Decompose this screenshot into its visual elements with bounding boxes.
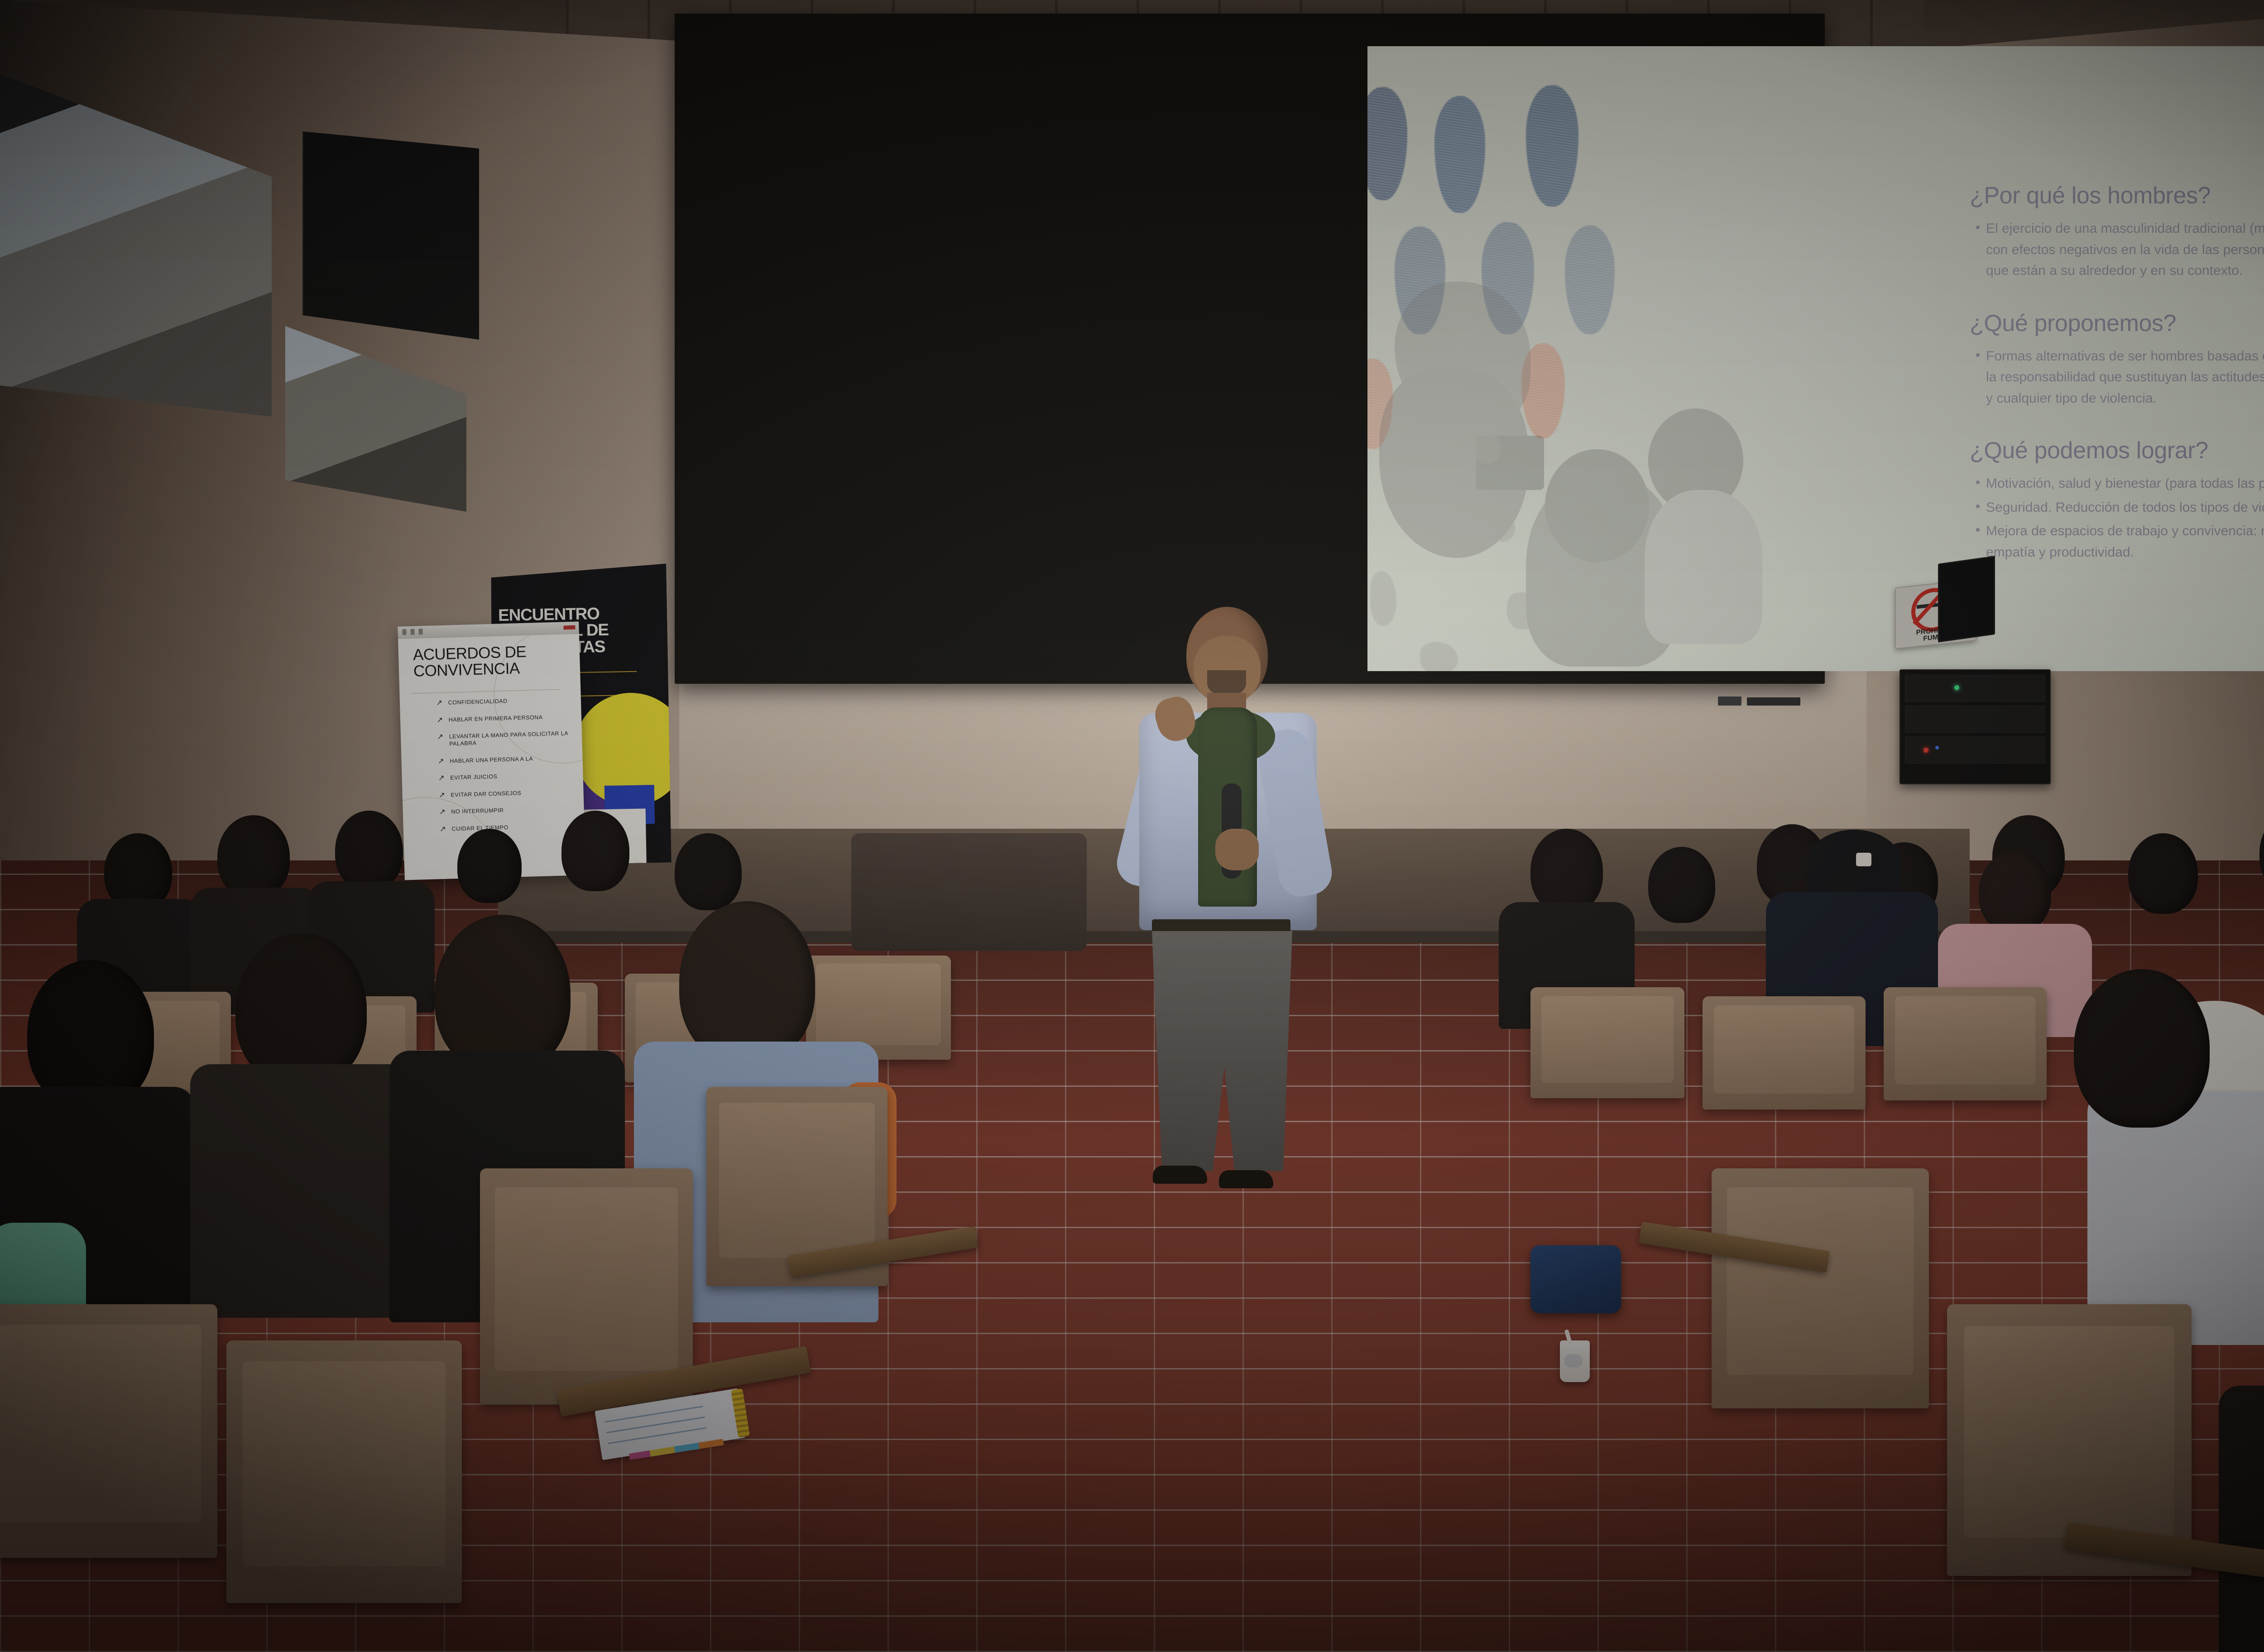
auditorium-seat-foreground [0,1304,217,1558]
slide-bullet-text: Motivación, salud y bienestar (para toda… [1986,473,2264,495]
fingerprint-mark [1367,87,1407,200]
auditorium-seat-foreground [1712,1168,1929,1408]
audience-head [1648,847,1715,923]
auditorium-seat-foreground [226,1340,462,1603]
flipchart-rings [402,629,422,635]
list-item: ↗LEVANTAR LA MANO PARA SOLICITAR LA PALA… [437,730,578,748]
slide-text-column: ¿Por qué los hombres? El ejercicio de un… [1970,182,2264,591]
auditorium-seat-foreground [480,1168,693,1404]
arrow-up-right-icon: ↗ [436,716,443,724]
power-led-green [1954,685,1959,690]
baseball-cap-mickey [1807,830,1902,898]
bullet-dot [1976,353,1980,357]
list-item: ↗EVITAR DAR CONSEJOS [438,788,579,799]
auditorium-seat [1530,987,1684,1098]
bullet-dot [1976,528,1980,532]
auditorium-scene: ¿Por qué los hombres? El ejercicio de un… [0,0,2264,1652]
slide-bullet-text: El ejercicio de una masculinidad tradici… [1986,218,2264,282]
rack-unit[interactable] [1905,675,2045,702]
bullet-dot [1976,504,1980,508]
list-item: ↗NO INTERRUMPIR [439,805,580,816]
backpack [1530,1245,1621,1313]
cup-decoration [1564,1354,1583,1368]
slide-heading: ¿Por qué los hombres? [1970,182,2264,209]
audience-head [217,815,290,898]
auditorium-seat [1703,996,1866,1109]
flipchart-title: ACUERDOS DE CONVIVENCIA [413,643,550,679]
audience-head-foreground [679,901,815,1064]
list-item: ↗EVITAR JUICIOS [438,771,578,782]
paper-coffee-cup [1560,1340,1590,1382]
rack-unit[interactable] [1905,736,2045,764]
audience-head [675,833,742,910]
slide-bullet-text: Mejora de espacios de trabajo y conviven… [1986,521,2264,563]
audience-head [1530,829,1603,913]
audience-head [561,811,629,891]
slide-bullet: Mejora de espacios de trabajo y conviven… [1976,521,2264,563]
arrow-up-right-icon: ↗ [439,808,446,816]
presentation-slide: ¿Por qué los hombres? El ejercicio de un… [1367,46,2264,671]
projection-screen: ¿Por qué los hombres? El ejercicio de un… [1367,46,2264,671]
screen-logo-badge [1718,696,1741,706]
bullet-dot [1976,226,1980,229]
audience-body-foreground [190,1064,417,1318]
audience-head [457,829,522,903]
audience-head [1979,851,2051,933]
back-sofa [851,833,1087,951]
fingerprint-mark [1526,85,1578,206]
bullet-dot [1976,480,1980,484]
slide-bullet: Seguridad. Reducción de todos los tipos … [1976,497,2264,519]
arrow-up-right-icon: ↗ [440,825,446,833]
audience-head [2128,833,2198,914]
audience-head-foreground [435,915,571,1073]
slide-heading: ¿Qué podemos lograr? [1970,437,2264,464]
arrow-up-right-icon: ↗ [438,791,445,799]
slide-section: ¿Por qué los hombres? El ejercicio de un… [1970,182,2264,282]
status-led-blue [1935,746,1939,749]
presenter [1118,602,1336,1200]
list-item: ↗HABLAR EN PRIMERA PERSONA [436,713,577,724]
flipchart-brand-tag [563,625,575,630]
audience-body-foreground [2219,1386,2264,1652]
slide-bullet-text: Seguridad. Reducción de todos los tipos … [1986,497,2264,519]
slide-bullet: Motivación, salud y bienestar (para toda… [1976,473,2264,495]
screen-brand-label [1747,697,1800,706]
list-item: ↗HABLAR UNA PERSONA A LA [437,754,578,765]
rack-unit[interactable] [1905,706,2045,733]
slide-section: ¿Qué podemos lograr? Motivación, salud y… [1970,437,2264,563]
audience-head-foreground [235,933,367,1087]
presenter-mic-hand [1215,829,1259,870]
slide-heading: ¿Qué proponemos? [1970,310,2264,337]
audience-head [335,811,403,890]
presenter-shoe-right [1219,1170,1273,1188]
audience-head-foreground [2074,969,2210,1128]
wall-speaker-left [302,131,482,342]
av-equipment-rack[interactable] [1899,669,2051,784]
flipchart-rules-list: ↗CONFIDENCIALIDAD ↗HABLAR EN PRIMERA PER… [436,696,580,843]
projection-screen-frame: ¿Por qué los hombres? El ejercicio de un… [675,14,1825,684]
presenter-trousers [1152,931,1292,1171]
power-led-red [1923,748,1928,753]
list-item: ↗CUIDAR EL TIEMPO [440,822,580,833]
av-monitor [1938,556,1995,643]
slide-section: ¿Qué proponemos? Formas alternativas de … [1970,310,2264,409]
arrow-up-right-icon: ↗ [437,757,444,765]
presenter-shoe-left [1153,1166,1207,1184]
slide-bullet-text: Formas alternativas de ser hombres basad… [1986,346,2264,409]
arrow-up-right-icon: ↗ [436,699,443,707]
auditorium-seat [1884,987,2047,1100]
list-item: ↗CONFIDENCIALIDAD [436,696,576,707]
arrow-up-right-icon: ↗ [437,733,444,748]
slide-bullet: Formas alternativas de ser hombres basad… [1976,346,2264,409]
slide-bullet: El ejercicio de una masculinidad tradici… [1976,218,2264,282]
fingerprint-mark [1434,96,1485,213]
slide-photo-children [1377,300,1838,671]
arrow-up-right-icon: ↗ [438,774,445,782]
